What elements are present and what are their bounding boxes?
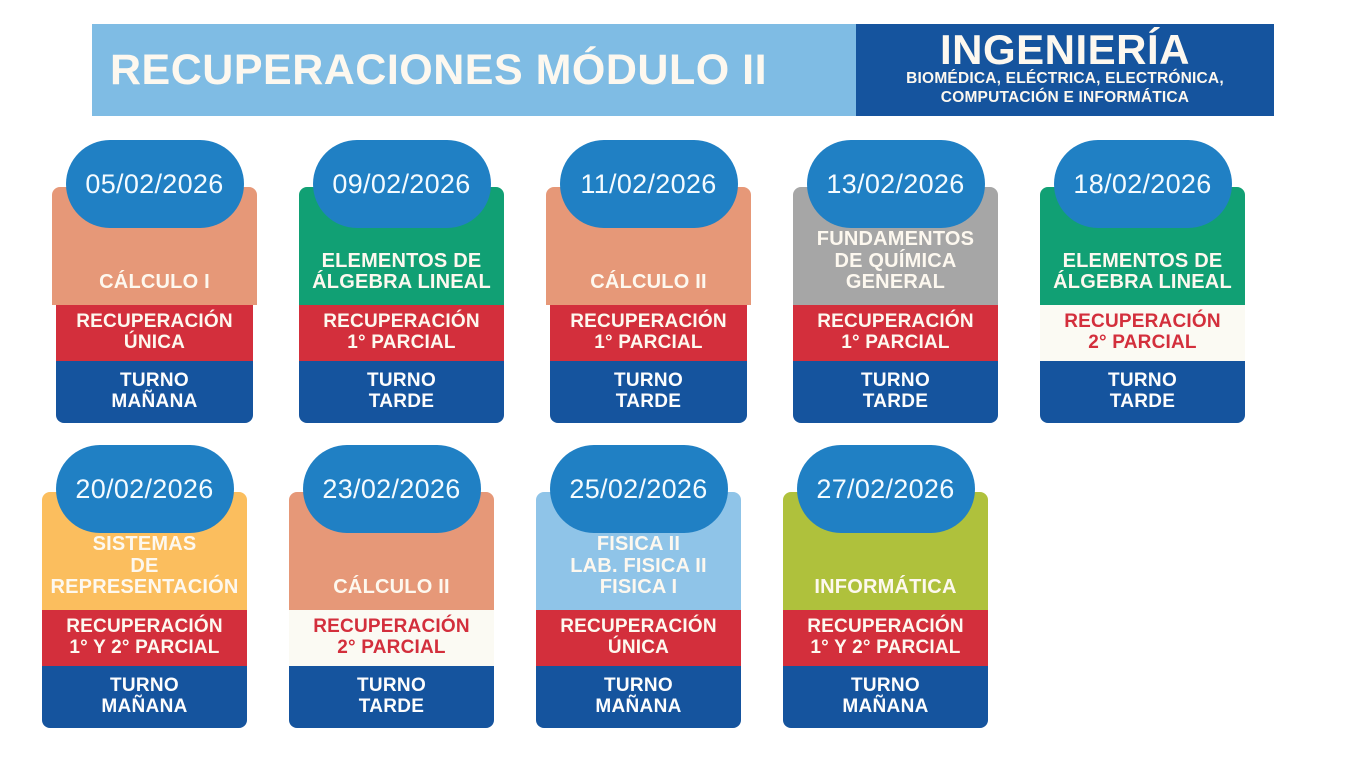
exam-recovery-text: RECUPERACIÓN1° Y 2° PARCIAL xyxy=(66,617,223,659)
exam-shift-band: TURNOTARDE xyxy=(289,666,494,728)
exam-card-grid: 05/02/2026CÁLCULO IRECUPERACIÓNÚNICATURN… xyxy=(0,140,1366,728)
exam-shift-band: TURNOMAÑANA xyxy=(536,666,741,728)
exam-shift-text: TURNOTARDE xyxy=(367,371,436,413)
page-header: RECUPERACIONES MÓDULO II INGENIERÍA BIOM… xyxy=(92,24,1274,116)
exam-subject-text: CÁLCULO I xyxy=(99,272,210,293)
exam-date-text: 18/02/2026 xyxy=(1073,169,1211,200)
exam-shift-text: TURNOMAÑANA xyxy=(101,676,187,718)
exam-subject-text: ELEMENTOS DEÁLGEBRA LINEAL xyxy=(1053,251,1232,293)
exam-row-1: 05/02/2026CÁLCULO IRECUPERACIÓNÚNICATURN… xyxy=(0,140,1366,423)
exam-row-2: 20/02/2026SISTEMASDEREPRESENTACIÓNRECUPE… xyxy=(0,445,1366,728)
faculty-badge: INGENIERÍA BIOMÉDICA, ELÉCTRICA, ELECTRÓ… xyxy=(856,24,1274,116)
exam-date-badge: 09/02/2026 xyxy=(313,140,491,228)
exam-shift-band: TURNOMAÑANA xyxy=(783,666,988,728)
faculty-subtitle-line1: BIOMÉDICA, ELÉCTRICA, ELECTRÓNICA, xyxy=(906,70,1224,89)
exam-recovery-text: RECUPERACIÓN1° PARCIAL xyxy=(817,312,974,354)
exam-card[interactable]: 20/02/2026SISTEMASDEREPRESENTACIÓNRECUPE… xyxy=(42,445,247,728)
exam-card[interactable]: 18/02/2026ELEMENTOS DEÁLGEBRA LINEALRECU… xyxy=(1040,140,1245,423)
faculty-subtitle-line2: COMPUTACIÓN E INFORMÁTICA xyxy=(941,89,1189,108)
exam-recovery-band: RECUPERACIÓN1° PARCIAL xyxy=(299,305,504,361)
exam-date-badge: 25/02/2026 xyxy=(550,445,728,533)
exam-recovery-text: RECUPERACIÓN2° PARCIAL xyxy=(1064,312,1221,354)
exam-card[interactable]: 27/02/2026INFORMÁTICARECUPERACIÓN1° Y 2°… xyxy=(783,445,988,728)
exam-shift-band: TURNOTARDE xyxy=(299,361,504,423)
exam-date-text: 05/02/2026 xyxy=(85,169,223,200)
exam-recovery-text: RECUPERACIÓNÚNICA xyxy=(560,617,717,659)
page-title: RECUPERACIONES MÓDULO II xyxy=(110,46,767,95)
exam-recovery-band: RECUPERACIÓN1° PARCIAL xyxy=(793,305,998,361)
exam-recovery-band: RECUPERACIÓN1° Y 2° PARCIAL xyxy=(42,610,247,666)
exam-recovery-text: RECUPERACIÓN1° PARCIAL xyxy=(570,312,727,354)
exam-date-text: 25/02/2026 xyxy=(569,474,707,505)
exam-recovery-band: RECUPERACIÓN1° PARCIAL xyxy=(550,305,747,361)
exam-recovery-band: RECUPERACIÓN2° PARCIAL xyxy=(289,610,494,666)
exam-shift-text: TURNOTARDE xyxy=(614,371,683,413)
exam-recovery-text: RECUPERACIÓNÚNICA xyxy=(76,312,233,354)
exam-subject-text: INFORMÁTICA xyxy=(814,577,956,598)
exam-date-badge: 27/02/2026 xyxy=(797,445,975,533)
header-title-bar: RECUPERACIONES MÓDULO II xyxy=(92,24,856,116)
exam-date-text: 09/02/2026 xyxy=(332,169,470,200)
exam-subject-text: FISICA IILAB. FISICA IIFISICA I xyxy=(570,534,707,598)
exam-recovery-band: RECUPERACIÓNÚNICA xyxy=(56,305,253,361)
exam-shift-band: TURNOTARDE xyxy=(1040,361,1245,423)
exam-subject-text: SISTEMASDEREPRESENTACIÓN xyxy=(50,534,238,598)
exam-shift-text: TURNOTARDE xyxy=(1108,371,1177,413)
exam-date-text: 20/02/2026 xyxy=(75,474,213,505)
exam-date-text: 13/02/2026 xyxy=(826,169,964,200)
exam-recovery-text: RECUPERACIÓN2° PARCIAL xyxy=(313,617,470,659)
exam-date-badge: 23/02/2026 xyxy=(303,445,481,533)
exam-subject-text: ELEMENTOS DEÁLGEBRA LINEAL xyxy=(312,251,491,293)
exam-card[interactable]: 25/02/2026FISICA IILAB. FISICA IIFISICA … xyxy=(536,445,741,728)
exam-shift-band: TURNOMAÑANA xyxy=(42,666,247,728)
exam-shift-text: TURNOTARDE xyxy=(861,371,930,413)
exam-date-badge: 20/02/2026 xyxy=(56,445,234,533)
exam-date-text: 11/02/2026 xyxy=(580,169,716,200)
faculty-name: INGENIERÍA xyxy=(940,29,1190,70)
exam-date-badge: 05/02/2026 xyxy=(66,140,244,228)
exam-date-text: 27/02/2026 xyxy=(816,474,954,505)
exam-card[interactable]: 13/02/2026FUNDAMENTOSDE QUÍMICAGENERALRE… xyxy=(793,140,998,423)
exam-shift-text: TURNOMAÑANA xyxy=(842,676,928,718)
exam-shift-band: TURNOMAÑANA xyxy=(56,361,253,423)
exam-recovery-text: RECUPERACIÓN1° PARCIAL xyxy=(323,312,480,354)
exam-recovery-band: RECUPERACIÓNÚNICA xyxy=(536,610,741,666)
exam-shift-text: TURNOMAÑANA xyxy=(595,676,681,718)
exam-recovery-text: RECUPERACIÓN1° Y 2° PARCIAL xyxy=(807,617,964,659)
exam-shift-text: TURNOMAÑANA xyxy=(111,371,197,413)
exam-card[interactable]: 09/02/2026ELEMENTOS DEÁLGEBRA LINEALRECU… xyxy=(299,140,504,423)
exam-subject-text: CÁLCULO II xyxy=(333,577,449,598)
exam-shift-band: TURNOTARDE xyxy=(550,361,747,423)
exam-date-badge: 18/02/2026 xyxy=(1054,140,1232,228)
exam-subject-text: FUNDAMENTOSDE QUÍMICAGENERAL xyxy=(817,229,974,293)
exam-card[interactable]: 23/02/2026CÁLCULO IIRECUPERACIÓN2° PARCI… xyxy=(289,445,494,728)
exam-recovery-band: RECUPERACIÓN1° Y 2° PARCIAL xyxy=(783,610,988,666)
exam-card[interactable]: 05/02/2026CÁLCULO IRECUPERACIÓNÚNICATURN… xyxy=(52,140,257,423)
exam-shift-band: TURNOTARDE xyxy=(793,361,998,423)
exam-date-text: 23/02/2026 xyxy=(322,474,460,505)
exam-date-badge: 11/02/2026 xyxy=(560,140,738,228)
exam-subject-text: CÁLCULO II xyxy=(590,272,706,293)
exam-shift-text: TURNOTARDE xyxy=(357,676,426,718)
exam-card[interactable]: 11/02/2026CÁLCULO IIRECUPERACIÓN1° PARCI… xyxy=(546,140,751,423)
exam-date-badge: 13/02/2026 xyxy=(807,140,985,228)
exam-recovery-band: RECUPERACIÓN2° PARCIAL xyxy=(1040,305,1245,361)
